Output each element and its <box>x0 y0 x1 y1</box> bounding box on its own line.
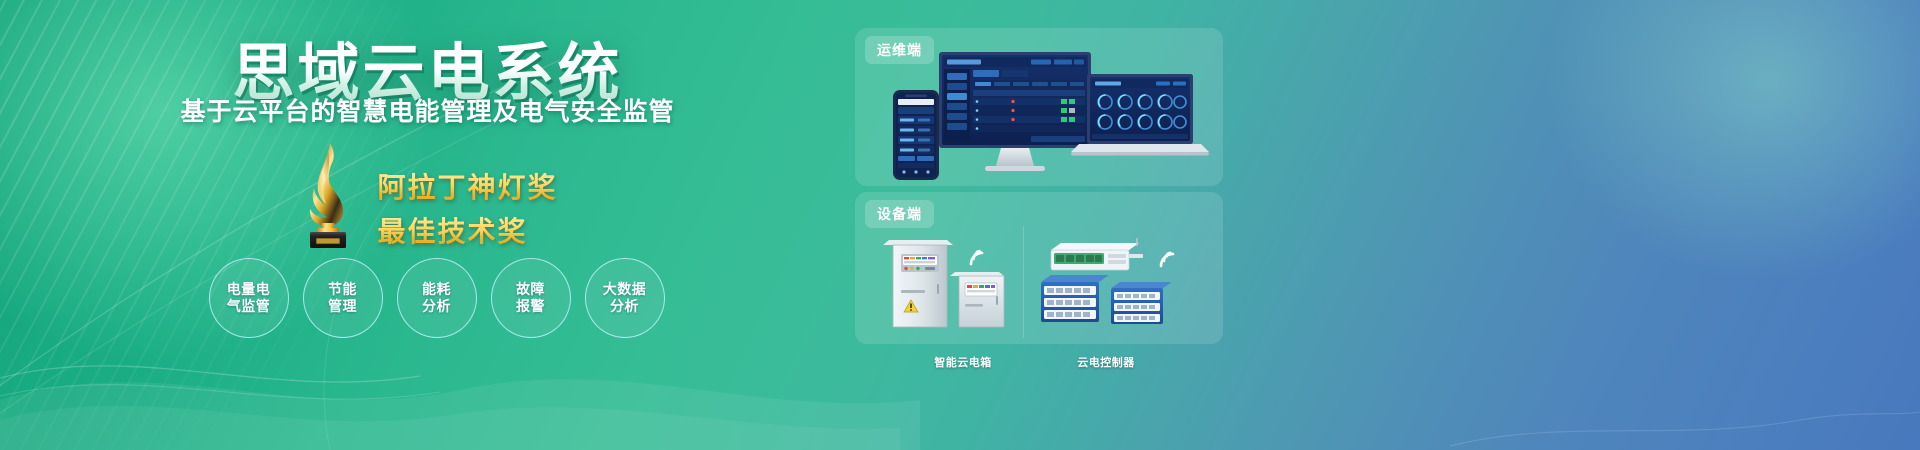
feature-label-line1: 大数据 <box>603 281 647 299</box>
feature-circle-consumption-analysis[interactable]: 能耗 分析 <box>397 258 477 338</box>
feature-circle-fault-alarm[interactable]: 故障 报警 <box>491 258 571 338</box>
feature-label-line2: 气监管 <box>227 298 271 316</box>
feature-label-line1: 节能 <box>328 281 357 299</box>
right-content-column: 运维端 <box>855 0 1920 450</box>
feature-label-line1: 故障 <box>516 281 545 299</box>
feature-label-line2: 分析 <box>610 298 639 316</box>
award-section: 阿拉丁神灯奖 最佳技术奖 <box>0 140 855 250</box>
feature-label-line2: 报警 <box>516 298 545 316</box>
feature-label-line2: 分析 <box>422 298 451 316</box>
monitor-device <box>939 52 1091 171</box>
cloud-controller-device <box>1041 238 1173 324</box>
panel-operations: 运维端 <box>855 28 1223 186</box>
feature-label-line1: 能耗 <box>422 281 451 299</box>
device-caption-cloud-controller: 云电控制器 <box>1041 354 1171 370</box>
feature-label-line1: 电量电 <box>227 281 271 299</box>
feature-label-line2: 管理 <box>328 298 357 316</box>
smart-cabinet-device <box>883 240 1004 327</box>
laptop-device <box>1071 74 1209 156</box>
award-labels: 阿拉丁神灯奖 最佳技术奖 <box>377 140 557 250</box>
panel-devices: 设备端 <box>855 192 1223 344</box>
page-subtitle: 基于云平台的智慧电能管理及电气安全监管 <box>0 92 855 128</box>
left-content-column: 思域云电系统 基于云平台的智慧电能管理及电气安全监管 <box>0 0 855 450</box>
phone-device <box>893 90 939 180</box>
feature-circle-energy-saving[interactable]: 节能 管理 <box>303 258 383 338</box>
award-label-1: 阿拉丁神灯奖 <box>377 166 557 206</box>
wifi-icon <box>1161 253 1173 266</box>
feature-circle-power-monitoring[interactable]: 电量电 气监管 <box>209 258 289 338</box>
award-label-2: 最佳技术奖 <box>377 210 557 250</box>
panel-tag-devices: 设备端 <box>865 200 934 228</box>
promo-banner: 思域云电系统 基于云平台的智慧电能管理及电气安全监管 <box>0 0 1920 450</box>
wifi-icon <box>971 251 982 264</box>
device-caption-smart-cabinet: 智能云电箱 <box>903 354 1023 370</box>
trophy-icon <box>297 141 359 249</box>
feature-circles: 电量电 气监管 节能 管理 能耗 分析 故障 报警 大数据 分析 <box>0 258 855 338</box>
feature-circle-big-data-analysis[interactable]: 大数据 分析 <box>585 258 665 338</box>
devices-hardware-group: 智能云电箱 云电控制器 <box>865 226 1213 338</box>
devices-screens-group <box>881 50 1211 182</box>
